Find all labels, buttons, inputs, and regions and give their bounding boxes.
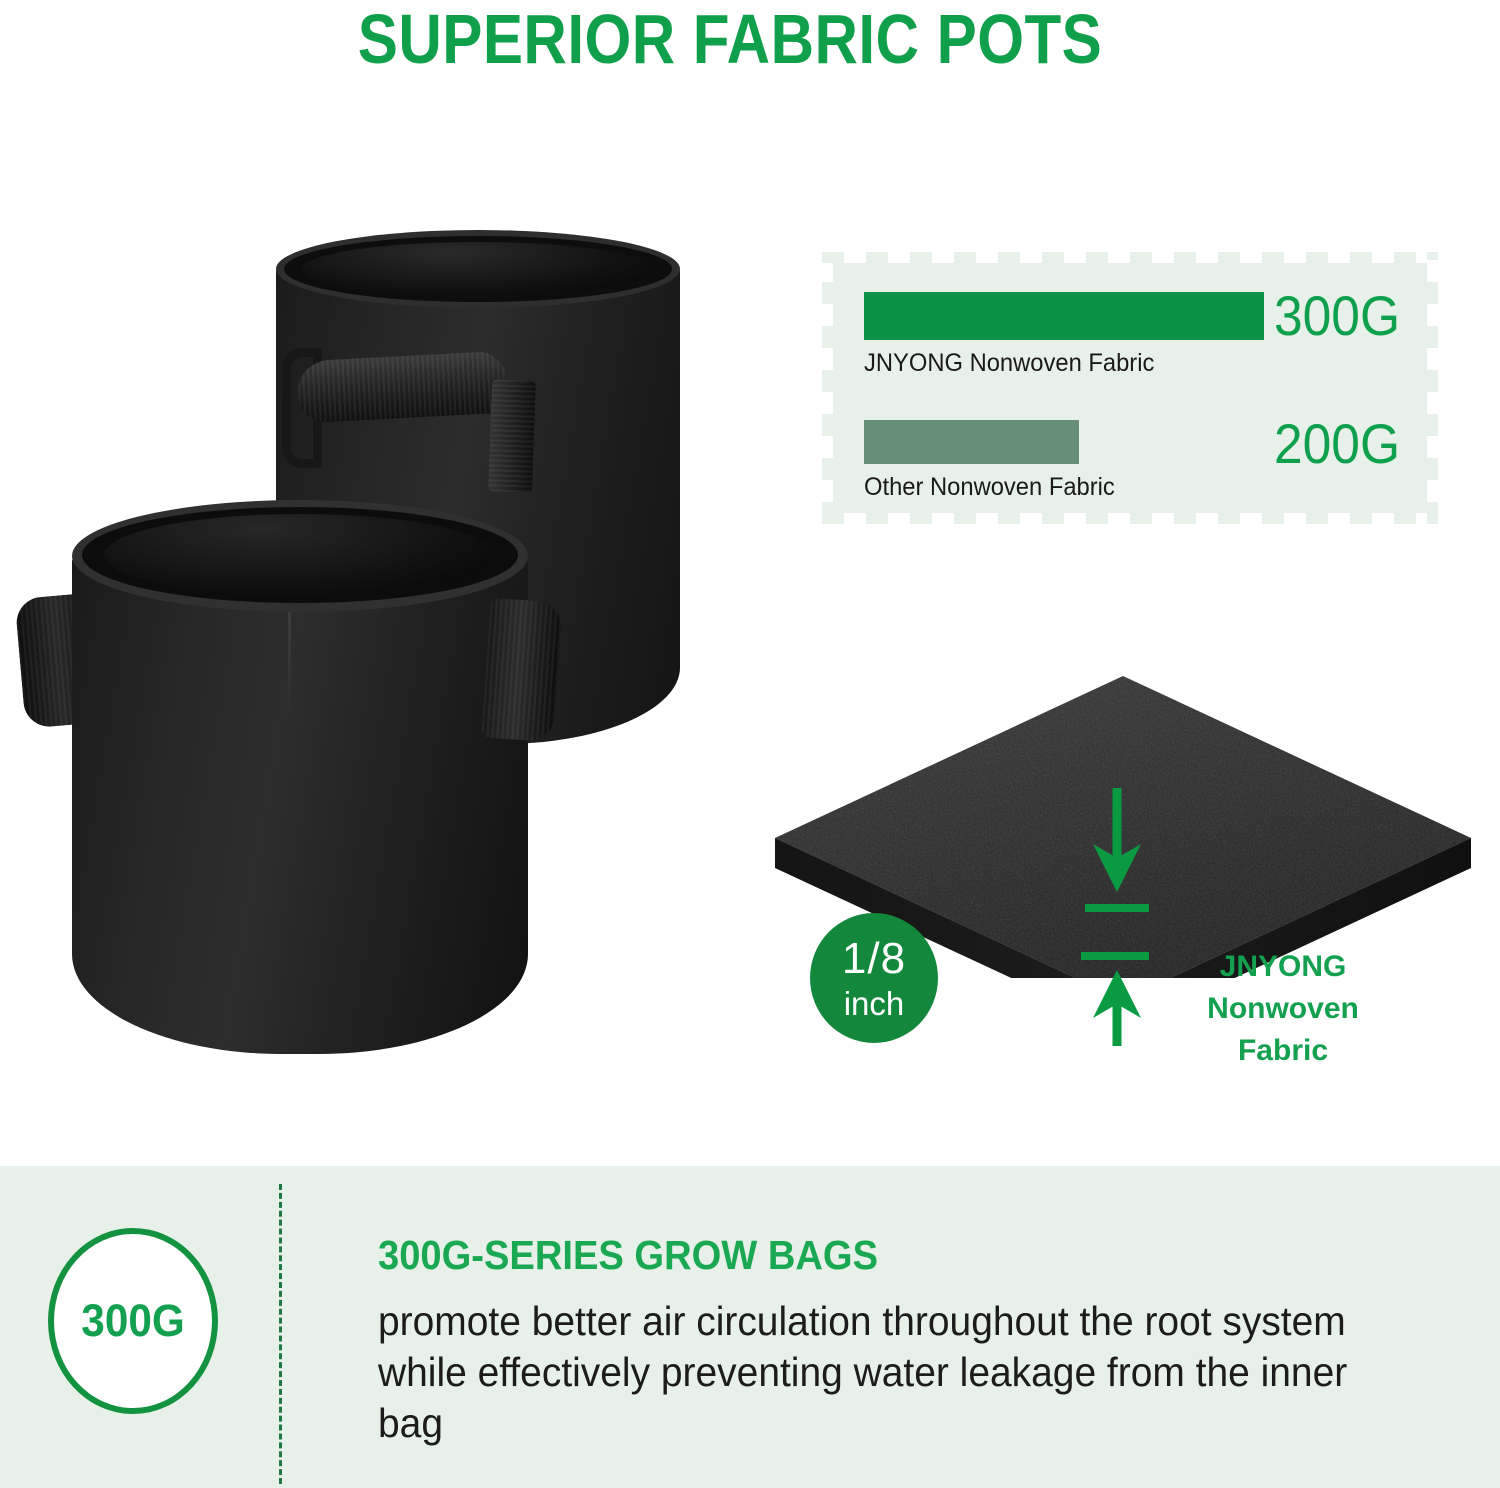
pot-handle-strap bbox=[297, 350, 512, 423]
bar-value-jnyong: 300G bbox=[1274, 288, 1400, 344]
thickness-badge: 1/8 inch bbox=[810, 913, 938, 1043]
thickness-unit: inch bbox=[844, 987, 905, 1020]
banner-title: 300G-SERIES GROW BAGS bbox=[378, 1232, 878, 1278]
bar-caption-jnyong: JNYONG Nonwoven Fabric bbox=[864, 349, 1244, 378]
banner-badge-label: 300G bbox=[81, 1295, 184, 1347]
bar-jnyong bbox=[864, 292, 1264, 340]
comparison-row-jnyong: JNYONG Nonwoven Fabric bbox=[864, 292, 1264, 378]
page-title: SUPERIOR FABRIC POTS bbox=[102, 2, 1358, 76]
comparison-row-other: Other Nonwoven Fabric bbox=[864, 420, 1128, 502]
fabric-weight-comparison-card: JNYONG Nonwoven Fabric 300G Other Nonwov… bbox=[822, 252, 1438, 524]
bar-value-other: 200G bbox=[1274, 416, 1400, 472]
fabric-label-line-3: Fabric bbox=[1153, 1030, 1413, 1072]
bar-caption-other: Other Nonwoven Fabric bbox=[864, 473, 1115, 502]
banner-weight-badge: 300G bbox=[48, 1228, 218, 1414]
thickness-fraction: 1/8 bbox=[842, 937, 906, 981]
fabric-thickness-illustration: 1/8 inch JNYONG Nonwoven Fabric bbox=[755, 648, 1475, 1128]
bar-other bbox=[864, 420, 1079, 464]
fabric-label-line-1: JNYONG bbox=[1153, 946, 1413, 988]
banner-description: promote better air circulation throughou… bbox=[378, 1296, 1404, 1449]
fabric-label: JNYONG Nonwoven Fabric bbox=[1153, 946, 1413, 1072]
product-infographic: SUPERIOR FABRIC POTS JNYONG bbox=[0, 0, 1500, 1488]
pot-body bbox=[72, 554, 528, 1054]
product-photo bbox=[0, 190, 760, 1150]
pot-interior bbox=[302, 242, 654, 296]
pot-handle-right bbox=[481, 598, 563, 743]
fabric-label-line-2: Nonwoven bbox=[1153, 988, 1413, 1030]
pot-handle-tab bbox=[488, 379, 536, 492]
pot-interior bbox=[104, 514, 496, 596]
banner-dashed-divider bbox=[279, 1184, 282, 1484]
fabric-pot-front bbox=[20, 500, 580, 1100]
